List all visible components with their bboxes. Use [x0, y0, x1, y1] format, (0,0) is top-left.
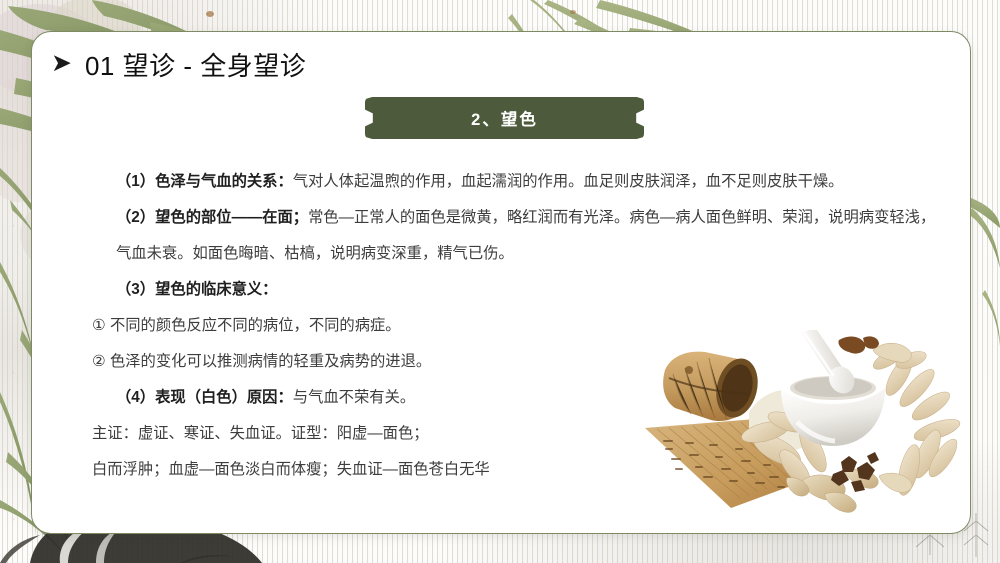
chinese-herbs-mortar-pestle-photo — [627, 330, 967, 522]
section-banner: 2、望色 — [365, 97, 644, 139]
paragraph-3-lead: （3）望色的临床意义： — [116, 281, 277, 298]
paragraph-6-text: 与气血不荣有关。 — [293, 389, 415, 406]
paragraph-7-text: 主证：虚证、寒证、失血证。证型：阳虚—面色； — [92, 425, 429, 442]
paragraph-1-text: 气对人体起温煦的作用，血起濡润的作用。血足则皮肤润泽，血不足则皮肤干燥。 — [293, 173, 844, 190]
paragraph-6-lead: （4）表现（白色）原因： — [116, 389, 293, 406]
paragraph-3: （3）望色的临床意义： — [92, 272, 937, 308]
arrowhead-bullet-icon: ➤ — [51, 51, 72, 76]
paragraph-2-lead: （2）望色的部位——在面； — [116, 209, 308, 226]
page-title: ➤ 01 望诊 - 全身望诊 — [51, 46, 306, 83]
content-card: ➤ 01 望诊 - 全身望诊 2、望色 （1）色泽与气血的关系：气对人体起温煦的… — [31, 31, 971, 534]
paragraph-5-text: ② 色泽的变化可以推测病情的轻重及病势的进退。 — [92, 353, 431, 370]
paragraph-8-text: 白而浮肿；血虚—面色淡白而体瘦；失血证—面色苍白无华 — [92, 461, 490, 478]
slide-canvas: ➤ 01 望诊 - 全身望诊 2、望色 （1）色泽与气血的关系：气对人体起温煦的… — [0, 0, 1000, 563]
page-title-text: 01 望诊 - 全身望诊 — [85, 46, 306, 83]
paragraph-4-text: ① 不同的颜色反应不同的病位，不同的病症。 — [92, 317, 401, 334]
paragraph-1-lead: （1）色泽与气血的关系： — [116, 173, 293, 190]
paragraph-2: （2）望色的部位——在面；常色—正常人的面色是微黄，略红润而有光泽。病色—病人面… — [92, 200, 937, 272]
paragraph-1: （1）色泽与气血的关系：气对人体起温煦的作用，血起濡润的作用。血足则皮肤润泽，血… — [92, 164, 937, 200]
section-banner-label: 2、望色 — [471, 106, 538, 130]
